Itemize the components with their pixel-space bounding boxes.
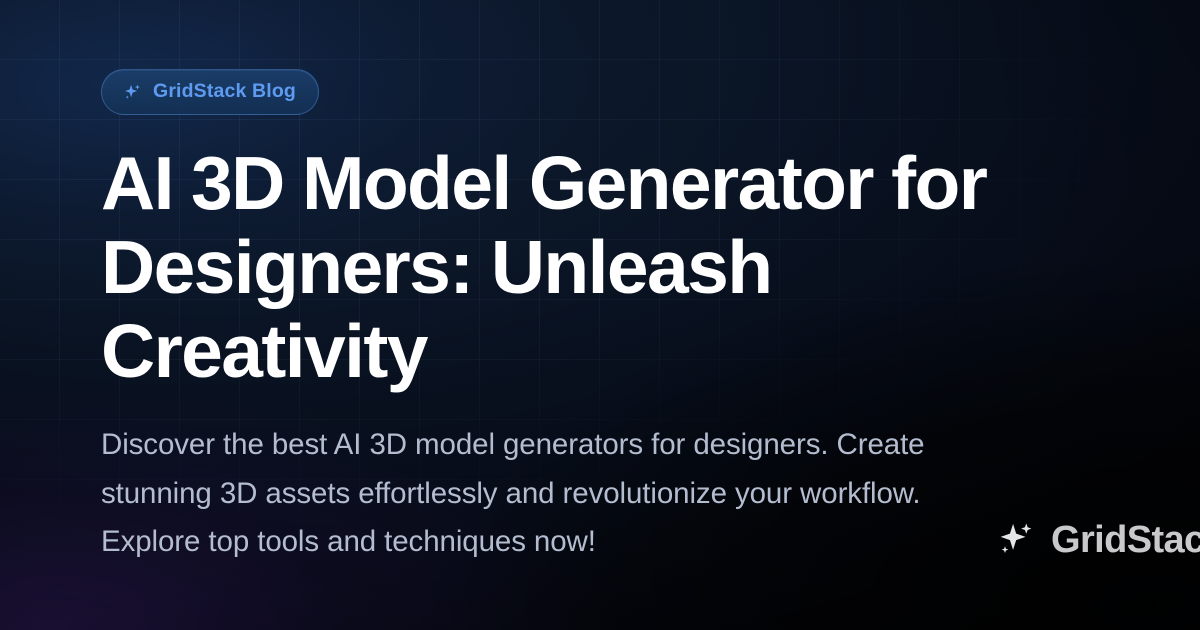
blog-badge[interactable]: GridStack Blog (101, 69, 319, 115)
gridstack-wordmark: GridStack (1051, 521, 1200, 559)
page-title: AI 3D Model Generator for Designers: Unl… (101, 141, 1021, 393)
sparkles-icon (122, 82, 143, 103)
card-content: GridStack Blog AI 3D Model Generator for… (101, 0, 1111, 630)
blog-badge-label: GridStack Blog (153, 82, 296, 102)
gridstack-logo: GridStack (994, 518, 1200, 562)
page-subtitle: Discover the best AI 3D model generators… (101, 421, 981, 567)
og-card: GridStack Blog AI 3D Model Generator for… (0, 0, 1200, 630)
sparkles-icon (994, 518, 1038, 562)
